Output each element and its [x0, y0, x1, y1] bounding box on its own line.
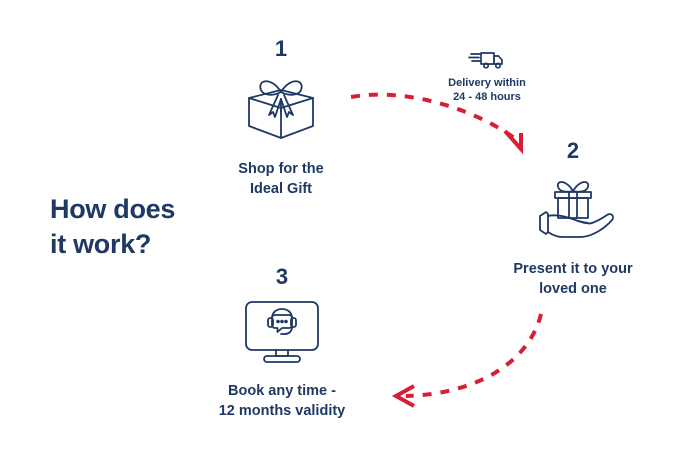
delivery-note: Delivery within 24 - 48 hours	[422, 48, 552, 105]
step-1-number: 1	[196, 38, 366, 60]
hand-holding-gift-icon	[528, 170, 618, 246]
gift-box-icon	[241, 68, 321, 146]
step-3-label: Book any time - 12 months validity	[197, 382, 367, 421]
page-title-line-2: it work?	[50, 227, 240, 262]
step-2-label: Present it to your loved one	[488, 260, 658, 299]
page-title: How does it work?	[50, 192, 240, 261]
step-2-number: 2	[488, 140, 658, 162]
infographic-canvas: How does it work? De	[0, 0, 700, 457]
step-3-number: 3	[197, 266, 367, 288]
step-1: 1 Shop for the Ideal Gift	[196, 38, 366, 199]
step-2-label-line-2: loved one	[488, 280, 658, 300]
delivery-note-text: Delivery within 24 - 48 hours	[422, 76, 552, 105]
monitor-support-icon	[236, 296, 328, 368]
delivery-truck-icon	[468, 48, 506, 72]
arrow-step2-to-step3	[396, 314, 541, 406]
step-3: 3 Book any time - 12 mon	[197, 266, 367, 421]
step-2-label-line-1: Present it to your	[488, 260, 658, 280]
step-1-label: Shop for the Ideal Gift	[196, 160, 366, 199]
delivery-note-line-1: Delivery within	[422, 76, 552, 90]
step-2: 2 Present it to your loved one	[488, 140, 658, 299]
step-1-label-line-2: Ideal Gift	[196, 180, 366, 200]
step-3-label-line-2: 12 months validity	[197, 402, 367, 422]
step-1-label-line-1: Shop for the	[196, 160, 366, 180]
delivery-note-line-2: 24 - 48 hours	[422, 90, 552, 104]
step-3-label-line-1: Book any time -	[197, 382, 367, 402]
